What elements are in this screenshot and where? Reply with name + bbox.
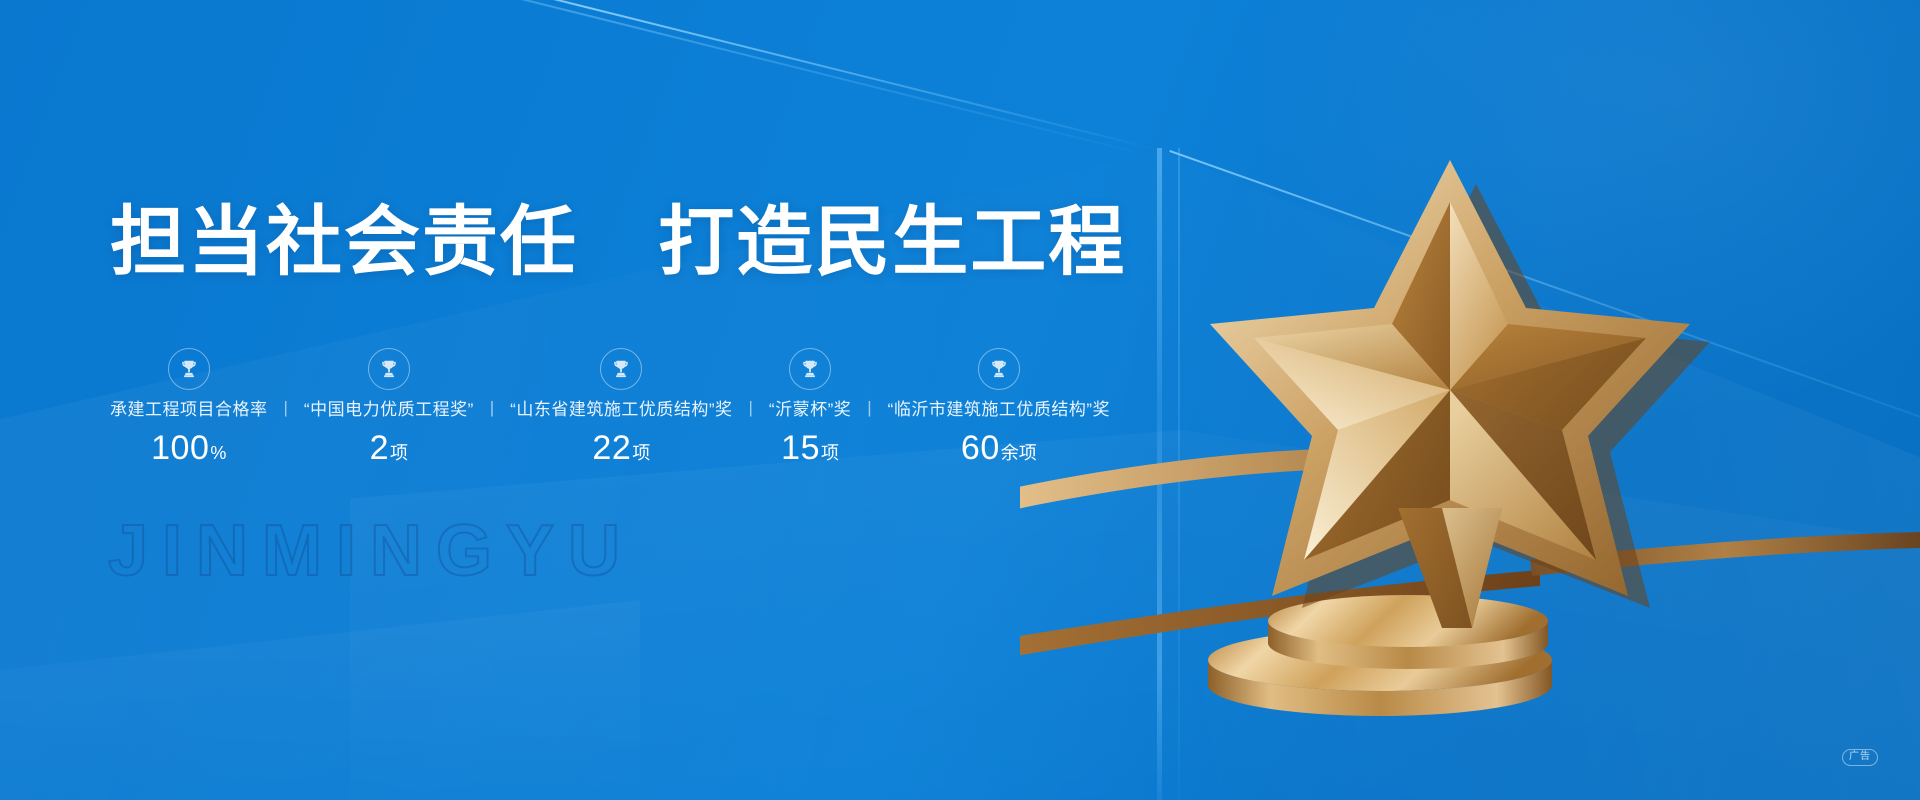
trophy-icon [168,348,210,390]
stat-label: “中国电力优质工程奖” [304,401,474,418]
background-light-spine [1157,148,1162,800]
stat-label: “山东省建筑施工优质结构”奖 [510,401,732,418]
stat-label: “沂蒙杯”奖 [769,401,851,418]
stat-unit: 项 [632,443,650,463]
stat-divider: | [284,399,288,416]
stat-unit: % [210,443,226,463]
stat-item: “临沂市建筑施工优质结构”奖60余项 [888,348,1110,465]
stat-number: 2 [370,429,389,467]
trophy-icon [978,348,1020,390]
stat-item: “山东省建筑施工优质结构”奖22项 [510,348,732,465]
background-light-spine-secondary [1178,148,1180,800]
stat-value: 2项 [370,431,408,465]
stat-item: 承建工程项目合格率100% [110,348,268,465]
ad-badge: 广告 [1842,749,1878,766]
background-light-ray-left [8,0,1163,152]
stat-value: 100% [151,431,226,465]
stat-number: 60 [961,429,1000,467]
stat-unit: 项 [821,443,839,463]
stat-divider: | [749,399,753,416]
trophy-icon [789,348,831,390]
stat-label: “临沂市建筑施工优质结构”奖 [888,401,1110,418]
headline-part-2: 打造民生工程 [658,200,1126,285]
headline-part-1: 担当社会责任 [110,200,578,285]
stat-item: “沂蒙杯”奖15项 [769,348,851,465]
stat-value: 60余项 [961,431,1037,465]
page-title: 担当社会责任 打造民生工程 [110,203,1126,283]
stat-value: 22项 [592,431,650,465]
stat-label: 承建工程项目合格率 [110,401,268,418]
promo-banner: JINMINGYU 担当社会责任 打造民生工程 承建工程项目合格率100%|“中… [0,0,1920,800]
stat-unit: 余项 [1001,443,1037,463]
stat-divider: | [490,399,494,416]
trophy-icon [368,348,410,390]
stat-number: 15 [781,429,820,467]
trophy-icon [600,348,642,390]
stat-unit: 项 [390,443,408,463]
background-light-ray-left-secondary [8,0,1163,160]
stat-number: 100 [151,429,209,467]
stats-row: 承建工程项目合格率100%|“中国电力优质工程奖”2项|“山东省建筑施工优质结构… [110,348,1110,465]
stat-divider: | [867,399,871,416]
stat-value: 15项 [781,431,839,465]
brand-watermark: JINMINGYU [108,510,634,592]
stat-item: “中国电力优质工程奖”2项 [304,348,474,465]
stat-number: 22 [592,429,631,467]
